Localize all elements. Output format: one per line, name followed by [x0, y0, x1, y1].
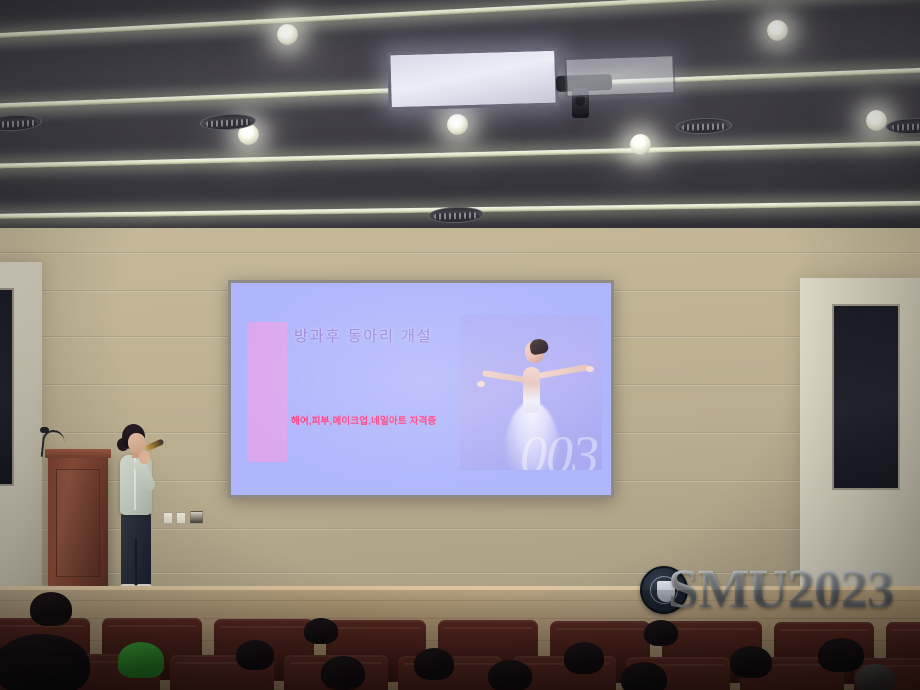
slide-number: 003: [520, 428, 598, 470]
right-acoustic-panel: [832, 304, 900, 490]
audience-head: [818, 638, 864, 672]
ceiling-air-vent: [886, 117, 920, 135]
ceiling-skylight-panel: [387, 48, 559, 111]
audience-head: [730, 646, 772, 678]
wall-panel-seam: [0, 252, 920, 254]
podium-top-surface: [45, 449, 111, 458]
projection-screen: 방과후 동아리 개설 ㅇㅇㅇ 헤어,피부,메이크업,네일아트 자격증 003: [228, 280, 614, 498]
ballerina-hair: [529, 338, 549, 356]
handheld-microphone: [145, 438, 165, 451]
presenter: [112, 424, 168, 594]
ballerina-left-hand: [477, 381, 485, 387]
ceiling-air-vent: [0, 114, 42, 133]
presentation-slide: 방과후 동아리 개설 ㅇㅇㅇ 헤어,피부,메이크업,네일아트 자격증 003: [231, 283, 611, 495]
presenter-hands: [139, 451, 150, 464]
audience-head: [304, 618, 338, 644]
ballerina-torso: [523, 367, 540, 413]
ceiling-light-strip-3: [0, 140, 920, 169]
ceiling: [0, 0, 920, 232]
slide-photo-ballerina: 003: [460, 315, 602, 470]
audience-head: [414, 648, 454, 680]
ceiling-air-vent: [676, 117, 733, 135]
presenter-pants: [121, 512, 151, 586]
audience-head-grey: [855, 664, 895, 690]
audience-head: [236, 640, 274, 670]
podium-front-panel: [56, 469, 100, 577]
audience-head-green-hood: [118, 642, 164, 678]
audience-head: [564, 642, 604, 674]
ballerina-left-arm: [482, 370, 526, 383]
ceiling-spotlight: [630, 134, 651, 155]
slide-title: 방과후 동아리 개설: [294, 325, 433, 346]
audience-head: [488, 660, 532, 690]
ceiling-reflector-panel: [564, 54, 675, 98]
slide-highlight-text: 헤어,피부,메이크업,네일아트 자격증: [291, 413, 436, 427]
presenter-face: [128, 433, 146, 453]
ballerina-right-hand: [586, 366, 594, 372]
slide-accent-block: [247, 322, 287, 462]
audience-seating: [0, 590, 920, 690]
ceiling-spotlight: [277, 24, 298, 45]
auditorium-photo: 방과후 동아리 개설 ㅇㅇㅇ 헤어,피부,메이크업,네일아트 자격증 003: [0, 0, 920, 690]
audience-head: [30, 592, 72, 626]
slide-subtitle: ㅇㅇㅇ: [294, 376, 319, 386]
wall-outlet: [176, 512, 186, 524]
ceiling-spotlight: [767, 20, 788, 41]
ceiling-spotlight: [447, 114, 468, 135]
audience-head: [321, 656, 365, 690]
audience-head: [621, 662, 667, 690]
ceiling-air-vent: [428, 206, 485, 224]
audience-head: [644, 620, 678, 646]
left-acoustic-panel: [0, 288, 14, 486]
ballerina-right-arm: [537, 364, 589, 379]
podium: [48, 455, 108, 593]
wall-port: [190, 511, 203, 524]
ceiling-spotlight: [866, 110, 887, 131]
